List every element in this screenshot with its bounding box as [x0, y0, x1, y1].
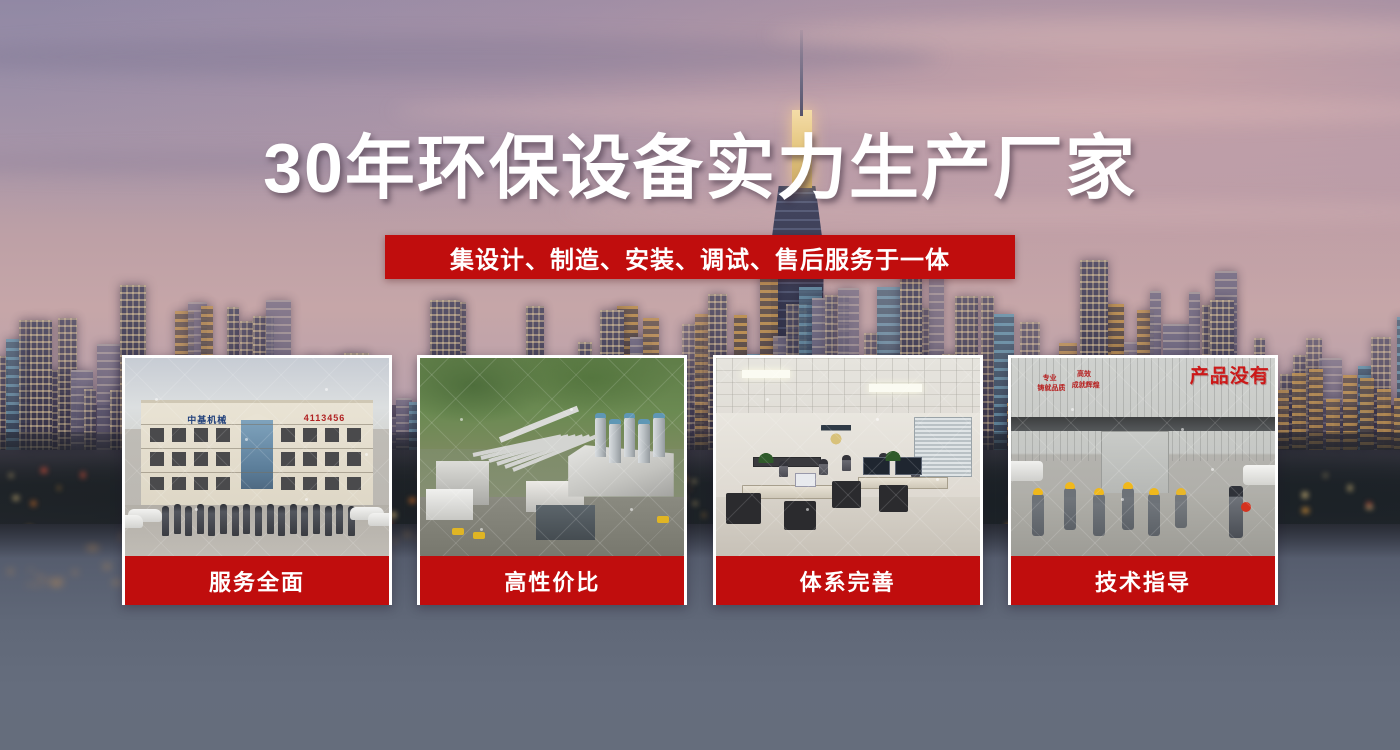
silo: [624, 417, 636, 457]
feature-card-system[interactable]: 体系完善: [713, 355, 983, 605]
subtitle-bar: 集设计、制造、安装、调试、售后服务于一体: [385, 235, 1015, 279]
cloud-band: [0, 36, 938, 78]
worker: [1175, 494, 1187, 528]
window: [216, 452, 230, 466]
city-light: [13, 496, 18, 501]
parked-car: [1243, 465, 1275, 485]
watermark-dot: [876, 418, 879, 421]
water-reflection: [8, 569, 12, 574]
parked-car: [125, 515, 143, 528]
silo-cap: [624, 413, 636, 418]
factory-slogan: 专业: [1043, 374, 1057, 383]
watermark-dot: [305, 498, 308, 501]
floor-line: [141, 424, 373, 425]
window: [303, 428, 317, 442]
silo: [638, 423, 650, 463]
card-photo-headquarters: 中基机械 4113456: [125, 358, 389, 556]
chair: [726, 493, 760, 525]
card-caption: 技术指导: [1011, 556, 1275, 605]
laptop: [795, 473, 816, 487]
silo-cap: [653, 413, 665, 418]
silo-cap: [595, 413, 607, 418]
water-reflection: [86, 546, 98, 550]
window: [325, 477, 339, 491]
staff-person: [243, 504, 250, 534]
chair: [879, 485, 908, 513]
window: [194, 452, 208, 466]
window: [194, 477, 208, 491]
silo-cap: [609, 419, 621, 424]
plant-office: [426, 489, 474, 521]
watermark-dot: [806, 508, 809, 511]
city-light: [31, 501, 36, 506]
window: [172, 428, 186, 442]
window: [150, 477, 164, 491]
card-caption: 体系完善: [716, 556, 980, 605]
supervisor: [1229, 486, 1243, 538]
building-phone: 4113456: [304, 413, 346, 423]
watermark-dot: [1211, 468, 1214, 471]
building-tall: [30, 320, 52, 450]
window: [150, 452, 164, 466]
city-light: [1324, 474, 1326, 477]
window: [150, 428, 164, 442]
window: [172, 477, 186, 491]
office-worker: [779, 461, 788, 477]
window-blinds: [914, 417, 972, 476]
water-reflection: [37, 575, 42, 577]
window: [347, 452, 361, 466]
watermark-dot: [1181, 428, 1184, 431]
window: [325, 428, 339, 442]
city-light: [1302, 508, 1309, 512]
staff-person: [336, 504, 343, 534]
watermark-dot: [195, 508, 198, 511]
cloud-band: [392, 96, 1400, 126]
factory-banner-text: 产品没有: [1190, 361, 1270, 388]
staff-person: [290, 504, 297, 534]
floor-line: [141, 448, 373, 449]
watermark-dot: [936, 478, 939, 481]
chair: [832, 481, 861, 509]
ceiling-light: [742, 370, 790, 378]
window: [216, 477, 230, 491]
card-photo-plant: [420, 358, 684, 556]
staff-person: [232, 506, 239, 536]
parked-van: [1011, 461, 1043, 481]
floor-line: [141, 472, 373, 473]
watermark-dot: [155, 398, 158, 401]
window: [194, 428, 208, 442]
staff-person: [174, 504, 181, 534]
window: [347, 477, 361, 491]
card-photo-office: [716, 358, 980, 556]
watermark-dot: [365, 453, 368, 456]
building: [19, 320, 31, 450]
excavator: [657, 516, 669, 523]
city-light: [1366, 506, 1373, 509]
feature-card-service[interactable]: 中基机械 4113456 服务全面: [122, 355, 392, 605]
subtitle-text: 集设计、制造、安装、调试、售后服务于一体: [450, 240, 950, 275]
factory-slogan: 成就辉煌: [1072, 381, 1100, 390]
window: [281, 452, 295, 466]
feature-card-guidance[interactable]: 产品没有 专业 高效 铸就品质 成就辉煌 技术指导: [1008, 355, 1278, 605]
watermark-dot: [1071, 408, 1074, 411]
office-worker: [842, 455, 851, 471]
city-light: [58, 486, 60, 490]
city-light: [81, 472, 85, 478]
factory-slogan: 高效: [1077, 370, 1091, 379]
water-reflection: [50, 582, 63, 586]
worker: [1032, 494, 1044, 536]
watermark-dot: [766, 398, 769, 401]
worker: [1093, 494, 1105, 536]
worker: [1148, 494, 1160, 536]
staff-person: [325, 506, 332, 536]
watermark-dot: [1121, 498, 1124, 501]
silo: [609, 423, 621, 463]
staff-person: [220, 504, 227, 534]
staff-person: [278, 506, 285, 536]
city-light: [1348, 485, 1353, 490]
water-reflection: [28, 569, 34, 572]
window: [303, 452, 317, 466]
window: [281, 428, 295, 442]
silo-cap: [638, 419, 650, 424]
staff-person: [255, 506, 262, 536]
window: [216, 428, 230, 442]
worker: [1122, 488, 1134, 530]
factory-slogan: 铸就品质: [1037, 384, 1065, 393]
ceiling-light: [869, 384, 922, 392]
city-light: [9, 474, 13, 476]
potted-plant: [885, 449, 901, 461]
watermark-dot: [245, 438, 248, 441]
water-reflection: [54, 578, 65, 581]
staff-person: [267, 504, 274, 534]
tower-spire: [800, 30, 803, 116]
card-photo-workers: 产品没有 专业 高效 铸就品质 成就辉煌: [1011, 358, 1275, 556]
window: [325, 452, 339, 466]
water-reflection: [25, 583, 38, 586]
page-title: 30年环保设备实力生产厂家: [0, 131, 1400, 205]
staff-person: [208, 506, 215, 536]
city-light: [1302, 492, 1308, 498]
wall-decal: [821, 425, 851, 449]
silo: [653, 417, 665, 457]
card-caption: 高性价比: [420, 556, 684, 605]
promo-banner: 30年环保设备实力生产厂家 集设计、制造、安装、调试、售后服务于一体 中基机械 …: [0, 0, 1400, 750]
window: [172, 452, 186, 466]
chair: [784, 501, 816, 531]
feature-card-list: 中基机械 4113456 服务全面 高性价比: [122, 355, 1278, 605]
staff-person: [313, 504, 320, 534]
excavator: [452, 528, 464, 535]
staff-person: [162, 506, 169, 536]
feature-card-value[interactable]: 高性价比: [417, 355, 687, 605]
water-reflection: [72, 571, 78, 575]
potted-plant: [758, 451, 774, 463]
watermark-dot: [325, 388, 328, 391]
city-light: [41, 468, 47, 474]
excavator: [473, 532, 485, 539]
card-caption: 服务全面: [125, 556, 389, 605]
worker: [1064, 488, 1076, 530]
window: [347, 428, 361, 442]
water-reflection: [112, 581, 121, 583]
staff-person: [301, 506, 308, 536]
office-worker: [819, 459, 828, 475]
plant-dark-shed: [536, 505, 594, 541]
staff-person: [185, 506, 192, 536]
water-reflection: [103, 564, 111, 569]
window: [303, 477, 317, 491]
window: [281, 477, 295, 491]
parked-car: [368, 513, 389, 526]
